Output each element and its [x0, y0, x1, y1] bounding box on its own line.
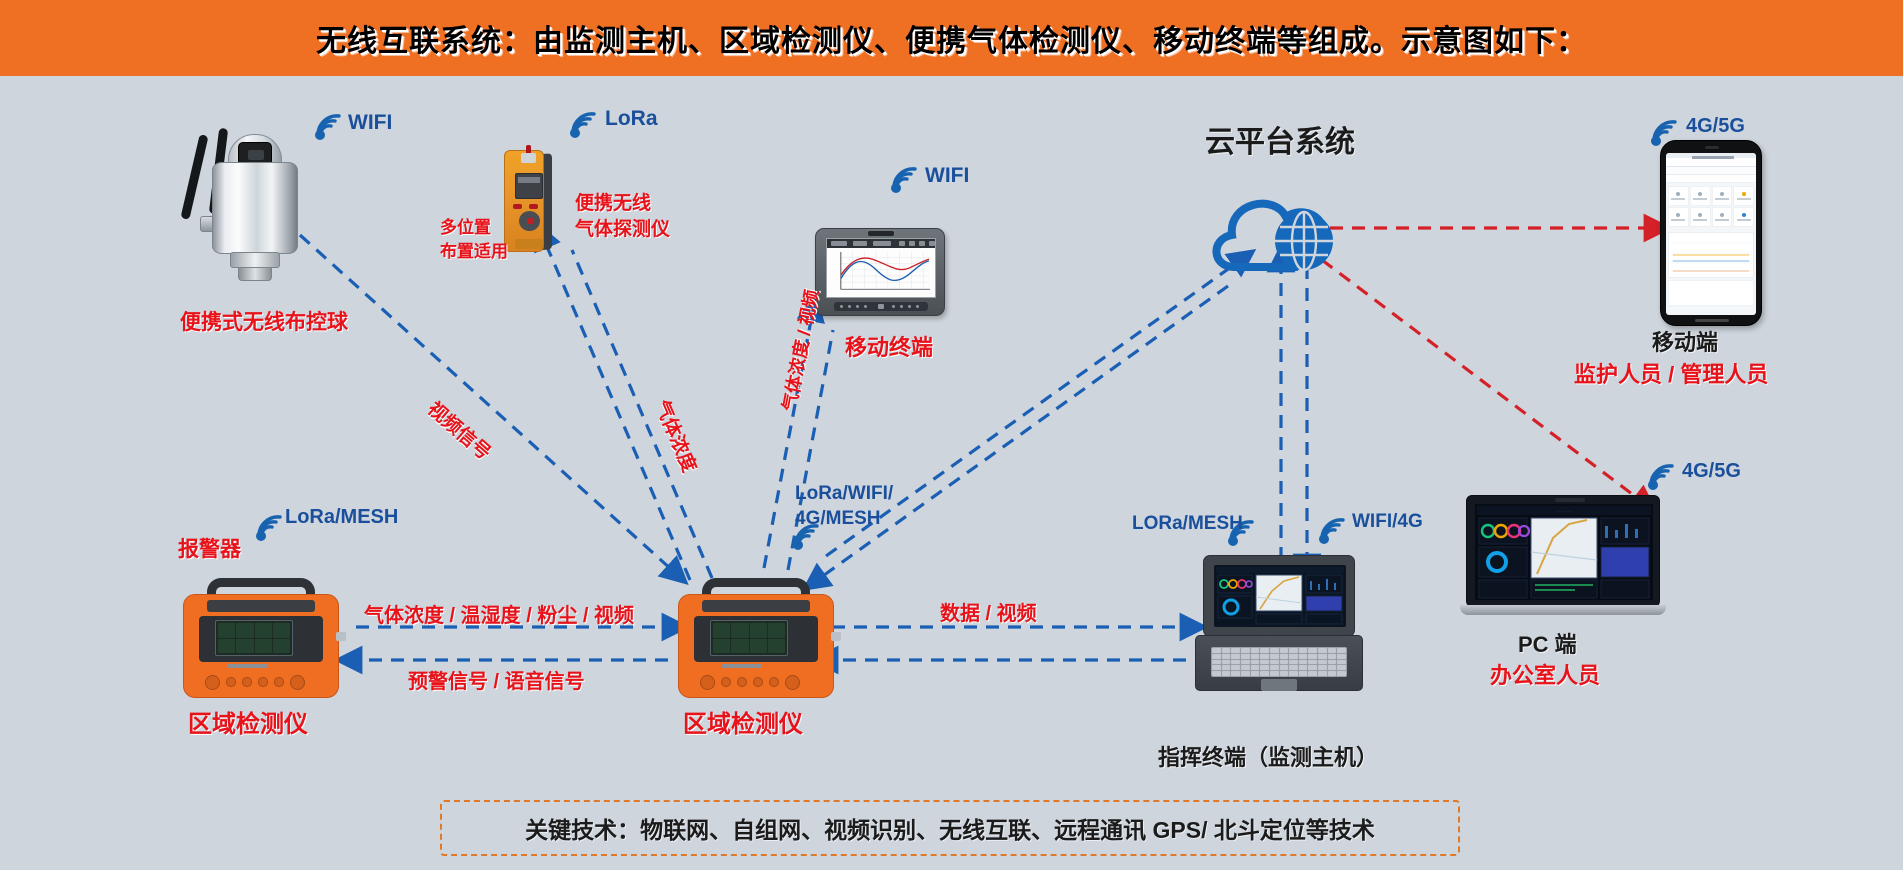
pc-client-name-label: PC 端 — [1518, 632, 1577, 659]
detector-brand-mark — [722, 664, 762, 668]
portable-detector-name-line2: 气体探测仪 — [575, 218, 670, 241]
detector-brand-mark — [227, 664, 267, 668]
detector-screen — [515, 173, 543, 199]
phone-tile — [1712, 186, 1733, 206]
phone-home-indicator — [1695, 319, 1729, 322]
phone-tile — [1690, 207, 1711, 227]
link-label-downlink-data: 预警信号 / 语音信号 — [408, 670, 585, 694]
portable-detector-signal-label: LoRa — [605, 106, 658, 132]
ball-camera-device[interactable] — [170, 120, 350, 295]
pc-client-device[interactable]: · · · · · · · — [1460, 495, 1666, 627]
phone-speaker-icon — [1705, 146, 1719, 149]
pc-lid: · · · · · · · — [1466, 495, 1660, 607]
wifi-icon — [1316, 516, 1350, 544]
phone-tile — [1668, 207, 1689, 227]
pc-base — [1460, 605, 1666, 615]
terminal-screen — [1214, 565, 1346, 627]
wifi-icon — [1645, 462, 1679, 490]
portable-detector-note-line1: 多位置 — [440, 218, 491, 239]
phone-tile-grid — [1666, 183, 1756, 230]
terminal-touchpad[interactable] — [1261, 679, 1297, 691]
phone-tile — [1733, 207, 1754, 227]
antenna-icon — [180, 134, 208, 220]
alarm-signal-label: LoRa/MESH — [285, 505, 398, 529]
detector-body — [504, 150, 544, 252]
terminal-lid — [1203, 555, 1355, 637]
area-detector-center-device[interactable] — [678, 578, 834, 698]
ball-camera-signal-label: WIFI — [348, 110, 392, 136]
area-detector-center-signal-line1: LoRa/WIFI/ — [795, 482, 893, 505]
cloud-globe-icon — [1200, 175, 1368, 283]
tablet-statusbar — [827, 239, 935, 248]
cloud-platform-title: 云平台系统 — [1205, 125, 1355, 162]
tablet-frame — [815, 228, 945, 316]
area-detector-left-device[interactable] — [183, 578, 339, 698]
phone-subbar — [1666, 175, 1756, 183]
phone-chart — [1668, 232, 1754, 278]
phone-tile — [1712, 207, 1733, 227]
area-detector-center-signal-line2: 4G/MESH — [795, 507, 881, 530]
tablet-camera-icon — [868, 231, 894, 236]
tablet-screen — [826, 238, 936, 298]
link-label-uplink-data: 气体浓度 / 温湿度 / 粉尘 / 视频 — [364, 604, 634, 628]
portable-detector-note-line2: 布置适用 — [440, 242, 508, 263]
mobile-terminal-name-label: 移动终端 — [845, 335, 933, 362]
area-detector-center-name-label: 区域检测仪 — [683, 710, 803, 739]
pc-camera-icon — [1555, 498, 1585, 502]
detector-dpad — [519, 211, 540, 231]
detector-button — [529, 204, 538, 209]
detector-side-port — [831, 632, 841, 641]
detector-top-vent — [521, 153, 536, 163]
wifi-icon — [567, 110, 601, 138]
portable-gas-detector-device[interactable] — [500, 140, 570, 265]
detector-top-vent — [702, 600, 810, 612]
mobile-terminal-signal-label: WIFI — [925, 163, 969, 189]
pc-client-role-label: 办公室人员 — [1490, 663, 1600, 690]
phone-tile — [1690, 186, 1711, 206]
mobile-client-role-label: 监护人员 / 管理人员 — [1574, 362, 1768, 389]
camera-body — [212, 162, 298, 254]
terminal-keyboard[interactable] — [1211, 647, 1347, 677]
mobile-client-signal-label: 4G/5G — [1686, 114, 1745, 138]
phone-toolbar — [1666, 167, 1756, 175]
camera-neck — [230, 252, 280, 268]
alarm-name-label: 报警器 — [178, 537, 241, 563]
detector-grill — [515, 239, 543, 249]
diagram-canvas: 无线互联系统：由监测主机、区域检测仪、便携气体检测仪、移动终端等组成。示意图如下… — [0, 0, 1903, 870]
phone-tile — [1668, 186, 1689, 206]
detector-top-vent — [207, 600, 315, 612]
command-terminal-signal-right: WIFI/4G — [1352, 510, 1423, 533]
link-label-data-video: 数据 / 视频 — [940, 602, 1037, 626]
wifi-icon — [888, 165, 922, 193]
detector-display — [215, 620, 293, 656]
command-terminal-name-label: 指挥终端（监测主机） — [1158, 745, 1378, 772]
pc-screen: · · · · · · · — [1475, 504, 1653, 600]
pc-client-signal-label: 4G/5G — [1682, 459, 1741, 483]
detector-display — [710, 620, 788, 656]
detector-button — [513, 204, 522, 209]
svg-text:· · · · · · ·: · · · · · · · — [1556, 509, 1572, 514]
phone-footer-panel — [1668, 280, 1754, 306]
area-detector-left-name-label: 区域检测仪 — [188, 710, 308, 739]
wifi-icon — [1648, 118, 1682, 146]
command-terminal-signal-left: LORa/MESH — [1132, 512, 1243, 535]
mobile-client-device[interactable] — [1660, 140, 1762, 326]
wifi-icon — [312, 112, 346, 140]
detector-button-row — [205, 674, 317, 690]
wifi-icon — [253, 513, 287, 541]
mobile-terminal-device[interactable] — [815, 228, 945, 316]
phone-app-titlebar — [1666, 158, 1756, 167]
key-technology-box: 关键技术：物联网、自组网、视频识别、无线互联、远程通讯 GPS/ 北斗定位等技术 — [440, 800, 1460, 856]
portable-detector-name-line1: 便携无线 — [575, 192, 651, 215]
key-technology-text: 关键技术：物联网、自组网、视频识别、无线互联、远程通讯 GPS/ 北斗定位等技术 — [525, 811, 1375, 845]
detector-side-port — [336, 632, 346, 641]
ball-camera-name-label: 便携式无线布控球 — [180, 310, 348, 336]
phone-screen — [1666, 153, 1756, 315]
detector-button-row — [700, 674, 812, 690]
mobile-client-name-label: 移动端 — [1652, 330, 1718, 357]
phone-tile — [1733, 186, 1754, 206]
camera-base — [238, 267, 272, 281]
tablet-buttons — [834, 302, 928, 311]
tablet-chart — [833, 252, 931, 291]
command-terminal-device[interactable] — [1195, 555, 1363, 695]
